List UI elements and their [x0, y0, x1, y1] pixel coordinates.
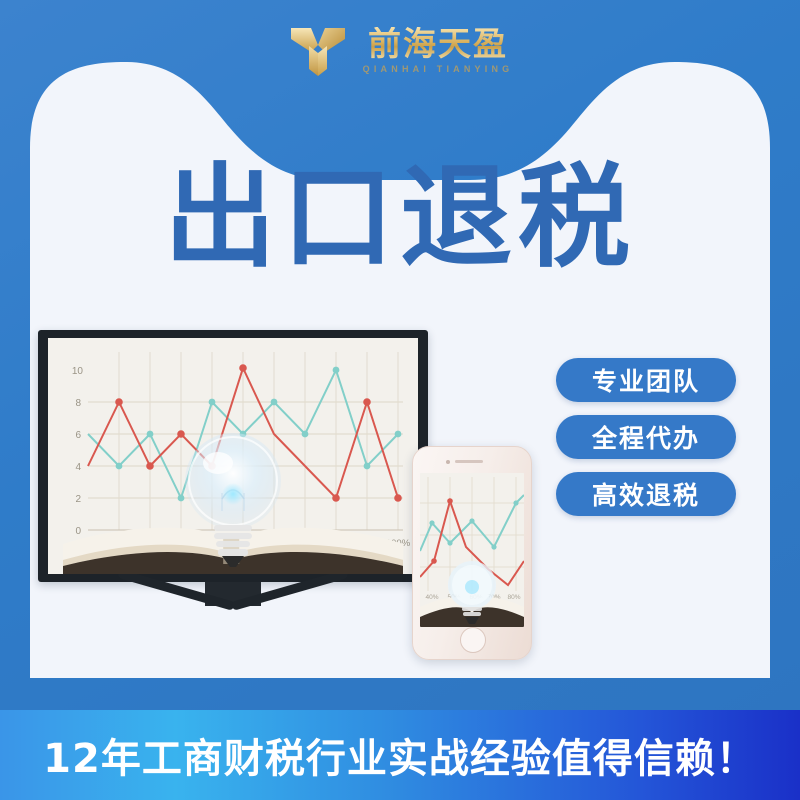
feature-badge-2[interactable]: 高效退税: [556, 472, 736, 516]
brand-name-cn: 前海天盈: [368, 27, 508, 60]
page-title: 出口退税: [0, 162, 800, 274]
svg-text:100%: 100%: [386, 538, 411, 549]
svg-text:90%: 90%: [357, 538, 377, 549]
poster-canvas: 前海天盈 QIANHAI TIANYING 出口退税: [0, 0, 800, 800]
svg-text:2: 2: [75, 494, 81, 505]
gold-t-logo-icon: [287, 19, 349, 81]
svg-text:80%: 80%: [326, 538, 346, 549]
smartphone: 40%50% 60%70% 80%: [412, 446, 532, 660]
phone-screen: 40%50% 60%70% 80%: [420, 473, 524, 627]
svg-text:6: 6: [75, 430, 81, 441]
svg-text:80%: 80%: [507, 594, 520, 601]
earpiece-speaker: [455, 460, 483, 463]
monitor-screen: 0 2 4 6 8 10 10% 20% 30% 40%: [48, 338, 418, 574]
home-button[interactable]: [460, 627, 486, 653]
feature-badge-list: 专业团队 全程代办 高效退税: [556, 358, 746, 529]
monitor-bezel: 0 2 4 6 8 10 10% 20% 30% 40%: [38, 330, 428, 582]
banner-text: 12年工商财税行业实战经验值得信赖！: [43, 726, 757, 784]
hero-title-wrap: 出口退税: [0, 162, 800, 274]
brand-header: 前海天盈 QIANHAI TIANYING: [0, 0, 800, 100]
svg-text:70%: 70%: [295, 538, 315, 549]
svg-text:10: 10: [72, 366, 84, 377]
svg-text:8: 8: [75, 398, 81, 409]
svg-text:10%: 10%: [109, 538, 129, 549]
front-camera-icon: [446, 460, 450, 464]
monitor-stand: [118, 602, 348, 620]
feature-badge-1[interactable]: 全程代办: [556, 415, 736, 459]
svg-text:0: 0: [75, 526, 81, 537]
brand-name-en: QIANHAI TIANYING: [363, 65, 514, 74]
svg-text:20%: 20%: [140, 538, 160, 549]
svg-text:40%: 40%: [425, 594, 438, 601]
desktop-monitor: 0 2 4 6 8 10 10% 20% 30% 40%: [38, 330, 428, 630]
svg-text:4: 4: [75, 462, 81, 473]
feature-badge-0[interactable]: 专业团队: [556, 358, 736, 402]
light-bulb: [178, 415, 288, 574]
bottom-banner: 12年工商财税行业实战经验值得信赖！: [0, 710, 800, 800]
